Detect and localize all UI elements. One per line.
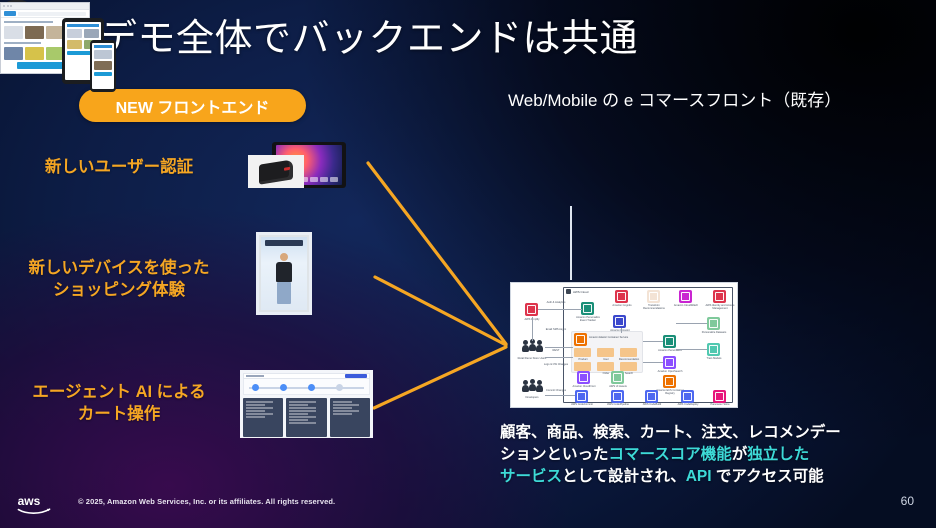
log-panel bbox=[286, 398, 326, 437]
agent-dashboard-screenshot bbox=[240, 370, 373, 438]
node-label-retail-users: Retail Demo Store Users bbox=[517, 357, 547, 360]
dashboard-step-progress bbox=[243, 379, 370, 395]
node-label-iam: AWS Identity and Access Management bbox=[705, 304, 735, 311]
node-aws-amplify bbox=[525, 303, 538, 316]
copyright-text: © 2025, Amazon Web Services, Inc. or its… bbox=[78, 497, 335, 506]
node-aws-ui-assets bbox=[611, 371, 624, 384]
aws-commerce-architecture-diagram: AWS Cloud AWS Amplify Retail Demo Store … bbox=[510, 282, 738, 408]
mirror-booth-frame bbox=[259, 235, 309, 312]
browser-titlebar bbox=[1, 3, 89, 10]
person-figure-icon bbox=[276, 253, 292, 307]
node-label-event-tracker: Amazon Personalize Event Tracker bbox=[573, 316, 603, 323]
node-amazon-personalize bbox=[663, 335, 676, 348]
node-label-codedeploy: AWS CodeDeploy bbox=[673, 403, 703, 406]
node-label-parameter-store: Parameter Store bbox=[705, 403, 735, 406]
node-aws-codebuild bbox=[645, 390, 658, 403]
tile-user bbox=[597, 348, 614, 357]
aws-cloud-icon bbox=[566, 289, 571, 294]
edge-label-email-sms: Email SMS Async bbox=[541, 328, 571, 331]
node-label-ecs: Amazon Elastic Container Service bbox=[589, 336, 641, 339]
node-label-ui-assets: AWS UI Assets bbox=[603, 385, 633, 388]
label-new-user-auth: 新しいユーザー認証 bbox=[4, 156, 234, 178]
aws-logo: aws bbox=[16, 492, 56, 516]
node-label-opensearch: Amazon OpenSearch bbox=[655, 370, 685, 373]
tile-recommendation bbox=[620, 348, 637, 357]
node-label-codebuild: AWS CodeBuild bbox=[637, 403, 667, 406]
tile-product bbox=[574, 348, 591, 357]
node-aws-codepipeline bbox=[611, 390, 624, 403]
node-label-transform-recs: Transform Recommendations bbox=[639, 304, 669, 311]
node-aws-codedeploy bbox=[681, 390, 694, 403]
caption-l2-d: 独立した bbox=[747, 446, 809, 463]
dashboard-log-panels bbox=[243, 398, 370, 437]
node-label-developers: Developers bbox=[517, 396, 547, 399]
caption-l3-b: として設計され、 bbox=[562, 468, 686, 485]
page-number: 60 bbox=[901, 494, 914, 508]
caption-line-2: ションといったコマースコア機能が独立した bbox=[500, 444, 920, 466]
retail-demo-store-users-icon bbox=[521, 339, 543, 355]
caption-l3-d: でアクセス可能 bbox=[712, 468, 824, 485]
node-label-codecommit: AWS CodeCommit bbox=[567, 403, 597, 406]
new-frontend-badge-label: NEW フロントエンド bbox=[116, 94, 270, 118]
node-label-cognito: Amazon Cognito bbox=[607, 304, 637, 307]
caption-line-1: 顧客、商品、検索、カート、注文、レコメンデー bbox=[500, 422, 920, 444]
front-to-architecture-connector bbox=[570, 206, 572, 280]
node-amazon-cloudfront bbox=[577, 371, 590, 384]
tablet-and-scanner-photo bbox=[248, 142, 346, 188]
scanner-device-icon bbox=[259, 159, 293, 184]
node-amazon-cognito bbox=[615, 290, 628, 303]
node-amazon-ecs bbox=[574, 333, 587, 346]
caption-l2-b: コマースコア機能 bbox=[609, 446, 732, 463]
node-aws-codecommit bbox=[575, 390, 588, 403]
caption-l1-a: 顧客、商品、検索、カート、注文、レコメンデー bbox=[500, 424, 841, 441]
svg-text:aws: aws bbox=[18, 494, 41, 508]
log-panel bbox=[243, 398, 283, 437]
node-label-cloudfront: Amazon CloudFront bbox=[569, 385, 599, 388]
node-label-train-models: Train Models bbox=[699, 357, 729, 360]
palm-scanner-photo bbox=[248, 155, 304, 188]
caption-l2-c: が bbox=[732, 446, 748, 463]
caption-line-3: サービスとして設計され、API でアクセス可能 bbox=[500, 466, 920, 488]
node-personalize-datasets bbox=[707, 317, 720, 330]
caption-l3-c: API bbox=[686, 468, 712, 485]
aws-cloud-label: AWS Cloud bbox=[573, 290, 588, 294]
node-amazon-cloudwatch bbox=[679, 290, 692, 303]
edge-label-logs: Logs & CW Changes bbox=[541, 363, 571, 366]
node-label-cloudwatch: Amazon CloudWatch bbox=[671, 304, 701, 307]
slide-canvas: 展示デモ全体でバックエンドは共通 NEW フロントエンド 新しいユーザー認証 新… bbox=[0, 0, 936, 528]
label-agent-ai-cart: エージェント AI による カート操作 bbox=[4, 381, 234, 425]
node-amazon-pinpoint bbox=[613, 315, 626, 328]
node-label-codepipeline: AWS CodePipeline bbox=[603, 403, 633, 406]
caption-l2-a: ションといった bbox=[500, 446, 609, 463]
label-new-device-shopping: 新しいデバイスを使った ショッピング体験 bbox=[4, 257, 234, 301]
smart-mirror-booth-photo bbox=[256, 232, 312, 315]
tile-order bbox=[597, 362, 614, 371]
ecommerce-front-heading: Web/Mobile の e コマースフロント（既存） bbox=[508, 89, 841, 113]
node-personalize-event-tracker bbox=[581, 302, 594, 315]
phone-storefront-mockup bbox=[90, 40, 116, 92]
architecture-caption: 顧客、商品、検索、カート、注文、レコメンデー ションといったコマースコア機能が独… bbox=[500, 422, 920, 488]
node-parameter-store bbox=[713, 390, 726, 403]
edge-label-auth-analytics: Auth & Analytics bbox=[541, 301, 571, 304]
tile-search bbox=[620, 362, 637, 371]
node-amazon-opensearch bbox=[663, 356, 676, 369]
tile-label-recommendation: Recommendation bbox=[614, 358, 644, 361]
tile-cart bbox=[574, 362, 591, 371]
edge-label-rest: REST bbox=[541, 349, 571, 352]
caption-l3-a: サービス bbox=[500, 468, 562, 485]
log-panel bbox=[330, 398, 370, 437]
edge-label-commit: Commit Changes bbox=[541, 389, 571, 392]
developers-icon bbox=[521, 379, 543, 395]
new-frontend-badge: NEW フロントエンド bbox=[79, 89, 306, 122]
node-train-models bbox=[707, 343, 720, 356]
node-ecs-container-registry bbox=[663, 375, 676, 388]
node-aws-iam bbox=[713, 290, 726, 303]
node-transform-recommendations bbox=[647, 290, 660, 303]
storefront-navbar bbox=[1, 10, 89, 18]
node-label-datasets: Personalize Datasets bbox=[699, 331, 729, 334]
aws-cloud-label-row: AWS Cloud bbox=[566, 289, 588, 294]
